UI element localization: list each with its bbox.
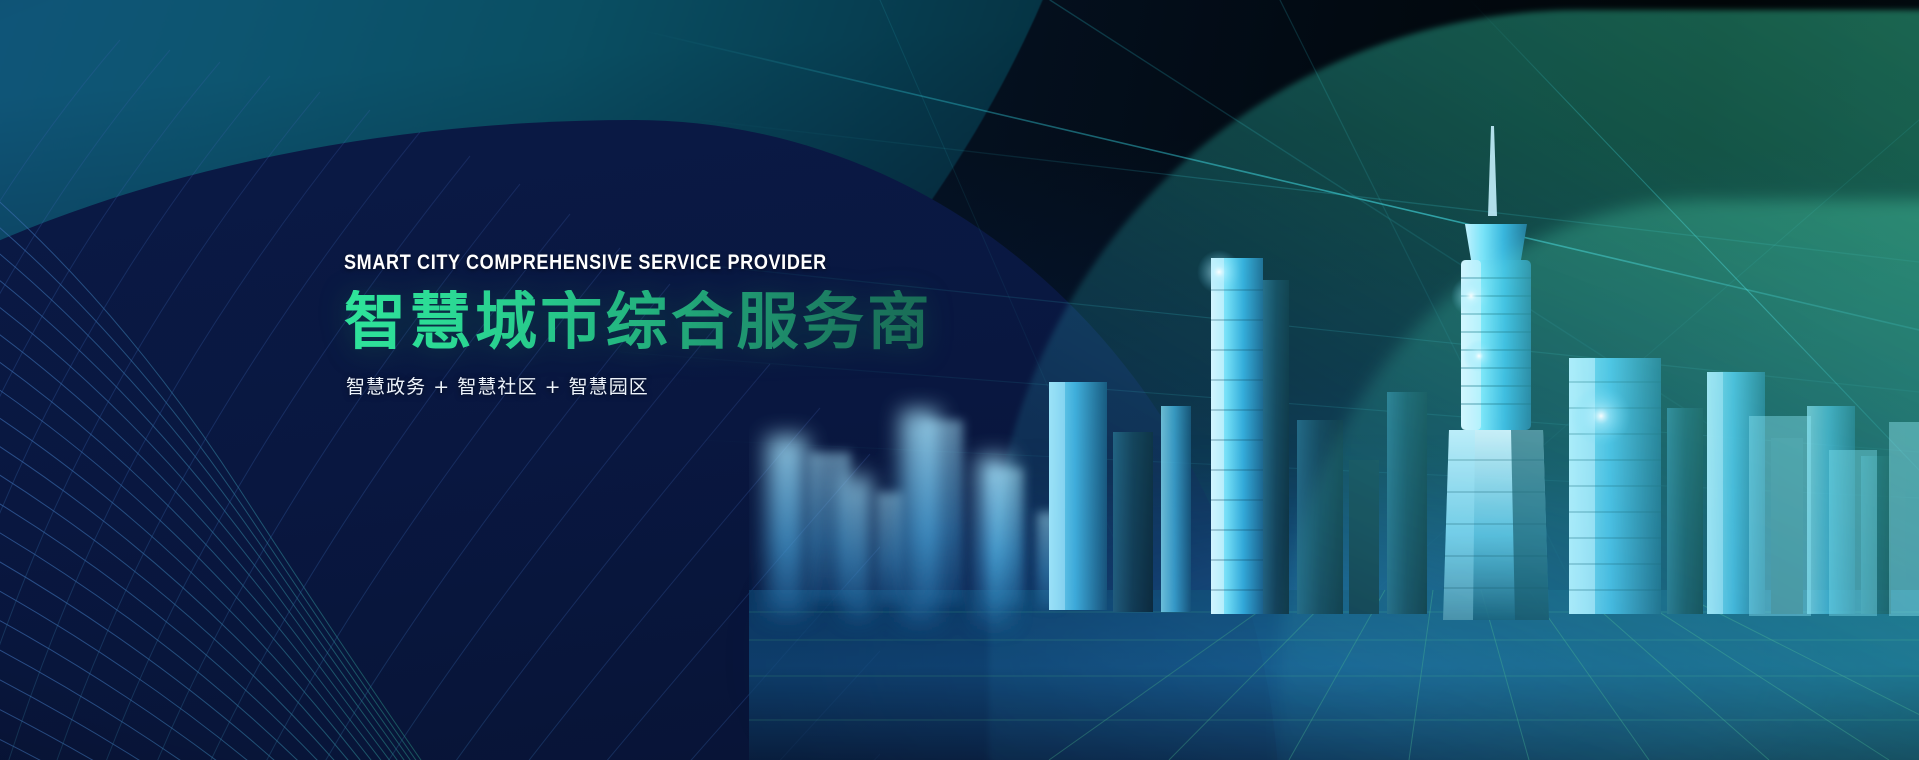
hero-copy-block: SMART CITY COMPREHENSIVE SERVICE PROVIDE… <box>344 252 933 399</box>
hero-eyebrow: SMART CITY COMPREHENSIVE SERVICE PROVIDE… <box>344 252 850 273</box>
hero-subline: 智慧政务 + 智慧社区 + 智慧园区 <box>346 372 933 399</box>
smart-city-hero-banner: SMART CITY COMPREHENSIVE SERVICE PROVIDE… <box>0 0 1919 760</box>
hero-headline: 智慧城市综合服务商 <box>344 290 933 354</box>
